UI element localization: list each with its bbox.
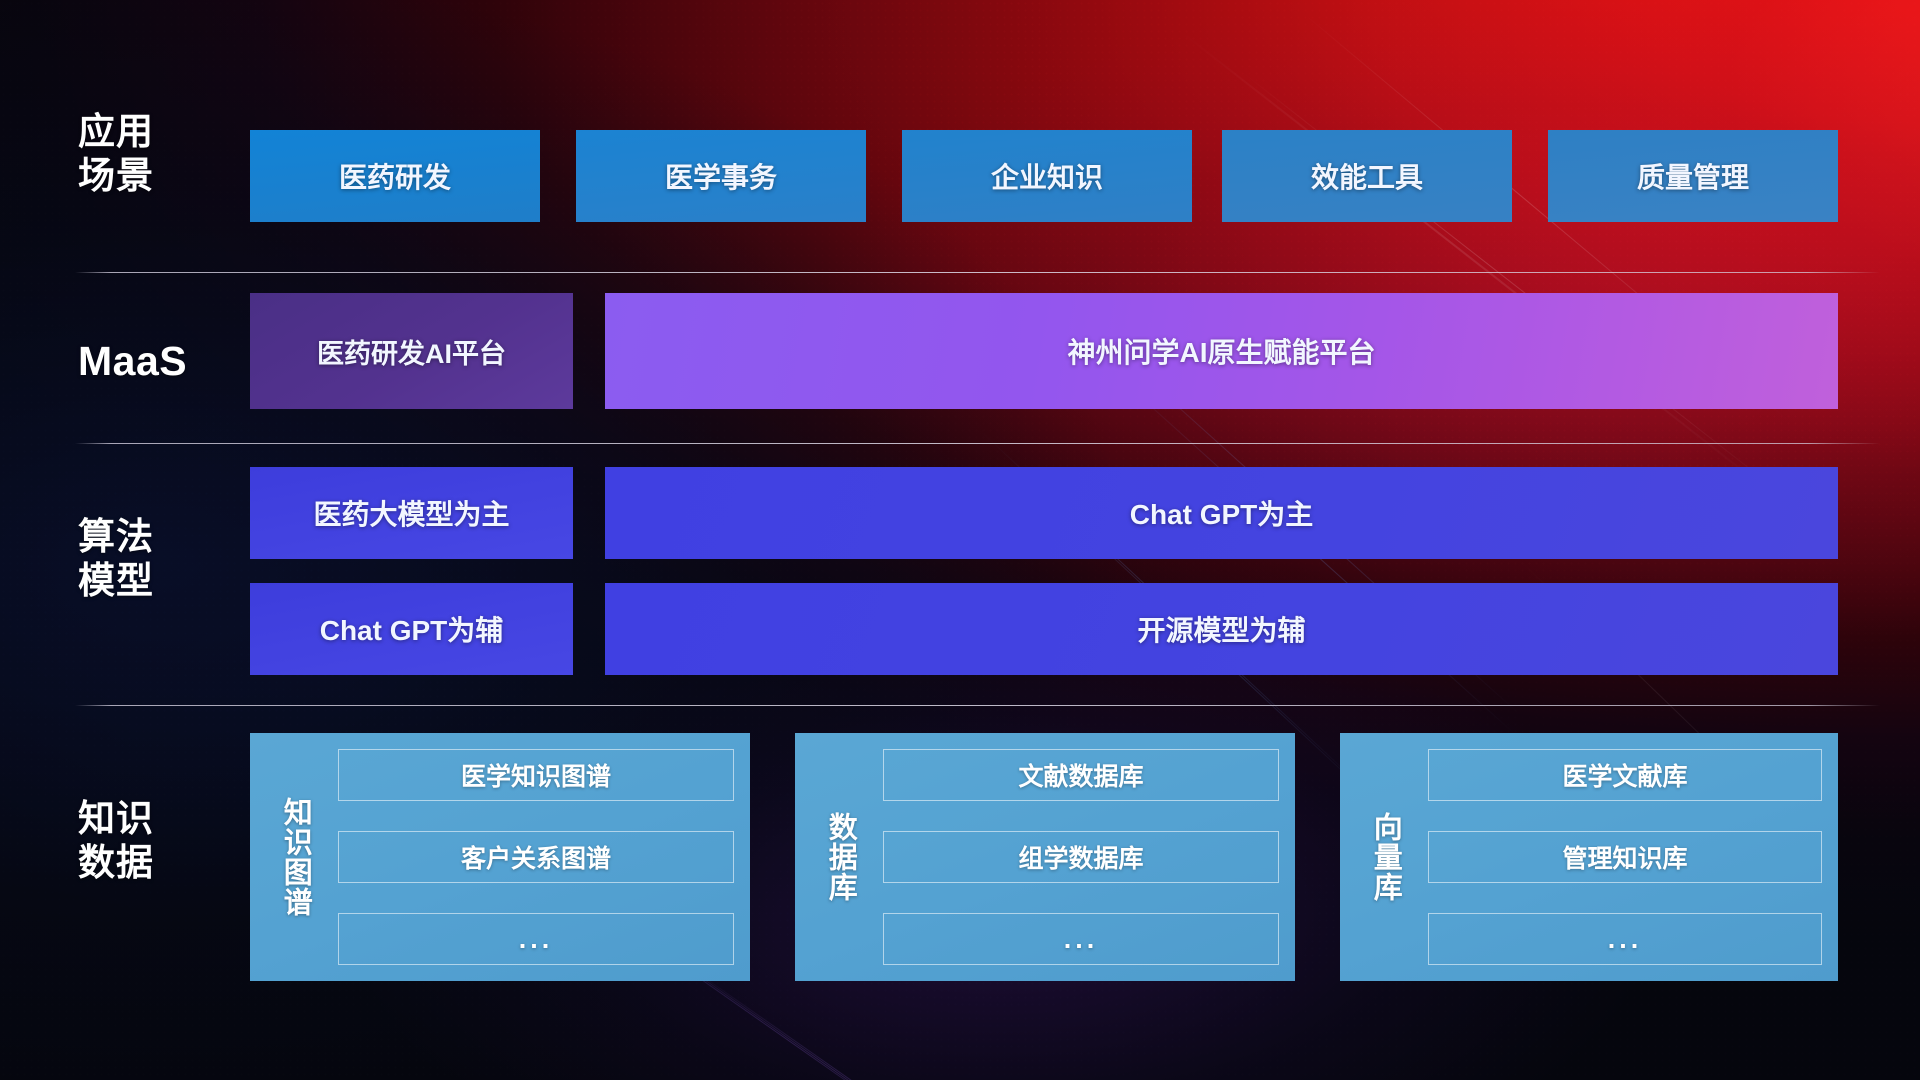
divider-application-maas	[75, 272, 1880, 273]
row-label-application: 应用 场景	[78, 110, 198, 197]
knowledge-item-omics-database[interactable]: 组学数据库	[883, 831, 1279, 883]
row-label-algorithm-line1: 算法	[78, 515, 198, 559]
row-label-knowledge-line2: 数据	[78, 841, 198, 885]
row-label-algorithm-line2: 模型	[78, 559, 198, 603]
knowledge-group-title-knowledge-graph: 知识图谱	[264, 749, 326, 965]
row-label-application-line1: 应用	[78, 110, 198, 154]
knowledge-item-more-database[interactable]: ...	[883, 913, 1279, 965]
row-label-application-line2: 场景	[78, 154, 198, 198]
knowledge-group-title-database: 数据库	[809, 749, 871, 965]
knowledge-items-knowledge-graph: 医学知识图谱 客户关系图谱 ...	[326, 749, 736, 965]
knowledge-item-customer-relation-graph[interactable]: 客户关系图谱	[338, 831, 734, 883]
divider-algorithm-knowledge	[75, 705, 1880, 706]
knowledge-items-vector-library: 医学文献库 管理知识库 ...	[1416, 749, 1824, 965]
app-box-efficiency-tools[interactable]: 效能工具	[1222, 130, 1512, 222]
knowledge-item-medical-literature-library[interactable]: 医学文献库	[1428, 749, 1822, 801]
algo-box-chatgpt-primary[interactable]: Chat GPT为主	[605, 467, 1838, 559]
row-label-knowledge-line1: 知识	[78, 797, 198, 841]
app-box-medical-affairs[interactable]: 医学事务	[576, 130, 866, 222]
diagram-content: 应用 场景 医药研发 医学事务 企业知识 效能工具 质量管理 MaaS 医药研发…	[0, 0, 1920, 1080]
knowledge-item-more-knowledge-graph[interactable]: ...	[338, 913, 734, 965]
knowledge-item-medical-knowledge-graph[interactable]: 医学知识图谱	[338, 749, 734, 801]
algo-box-opensource-secondary[interactable]: 开源模型为辅	[605, 583, 1838, 675]
knowledge-group-knowledge-graph: 知识图谱 医学知识图谱 客户关系图谱 ...	[250, 733, 750, 981]
knowledge-item-more-vector-library[interactable]: ...	[1428, 913, 1822, 965]
knowledge-item-literature-database[interactable]: 文献数据库	[883, 749, 1279, 801]
knowledge-group-database: 数据库 文献数据库 组学数据库 ...	[795, 733, 1295, 981]
divider-maas-algorithm	[75, 443, 1880, 444]
architecture-slide: 应用 场景 医药研发 医学事务 企业知识 效能工具 质量管理 MaaS 医药研发…	[0, 0, 1920, 1080]
algo-box-chatgpt-secondary[interactable]: Chat GPT为辅	[250, 583, 573, 675]
app-box-quality-management[interactable]: 质量管理	[1548, 130, 1838, 222]
knowledge-item-management-knowledge-library[interactable]: 管理知识库	[1428, 831, 1822, 883]
algo-box-pharma-llm-primary[interactable]: 医药大模型为主	[250, 467, 573, 559]
maas-box-shenzhou-wenxue-platform[interactable]: 神州问学AI原生赋能平台	[605, 293, 1838, 409]
knowledge-items-database: 文献数据库 组学数据库 ...	[871, 749, 1281, 965]
row-label-knowledge: 知识 数据	[78, 797, 198, 884]
app-box-drug-rnd[interactable]: 医药研发	[250, 130, 540, 222]
knowledge-group-vector-library: 向量库 医学文献库 管理知识库 ...	[1340, 733, 1838, 981]
knowledge-group-title-vector-library: 向量库	[1354, 749, 1416, 965]
app-box-enterprise-knowledge[interactable]: 企业知识	[902, 130, 1192, 222]
row-label-algorithm: 算法 模型	[78, 515, 198, 602]
row-label-maas: MaaS	[78, 337, 198, 385]
maas-box-drug-rnd-ai-platform[interactable]: 医药研发AI平台	[250, 293, 573, 409]
